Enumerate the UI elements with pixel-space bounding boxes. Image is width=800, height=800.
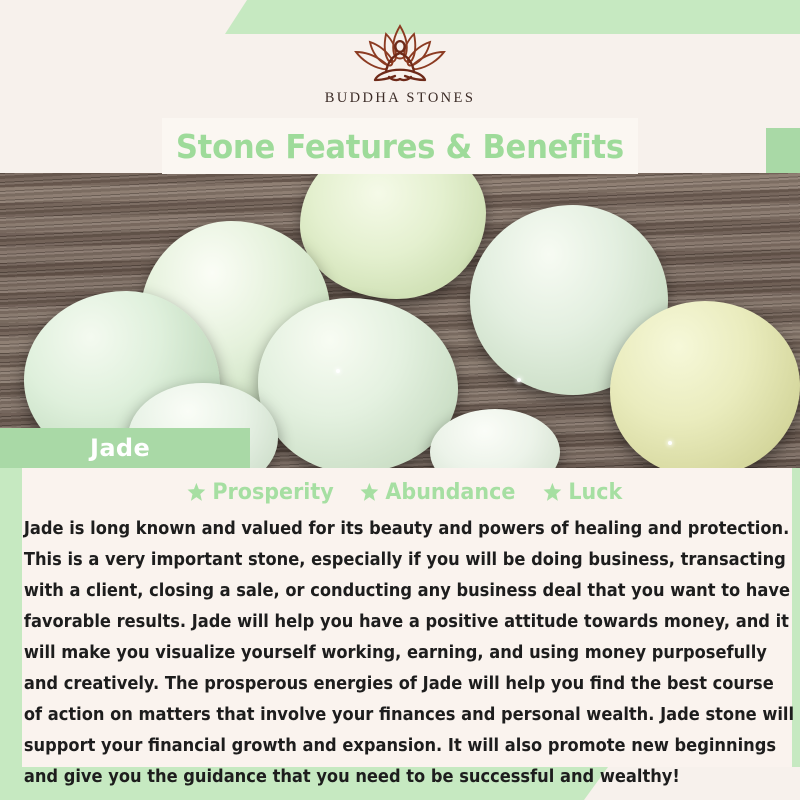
keyword-list: Prosperity Abundance Luck — [22, 468, 792, 507]
page-title: Stone Features & Benefits — [176, 127, 624, 166]
stone-name-bar: Jade — [0, 428, 250, 468]
sparkle-icon — [517, 378, 521, 382]
keyword-item: Abundance — [360, 480, 515, 505]
infographic-page: BUDDHA STONES Stone Features & Benefits … — [0, 0, 800, 800]
keyword-item: Luck — [543, 480, 622, 505]
sparkle-icon — [668, 441, 672, 445]
stone-description: Jade is long known and valued for its be… — [22, 514, 798, 793]
content-panel: Prosperity Abundance Luck Jade is long k… — [22, 468, 792, 767]
brand-logo: BUDDHA STONES — [0, 22, 800, 107]
sparkle-icon — [336, 369, 340, 373]
star-icon — [543, 482, 562, 502]
stone-shape — [610, 301, 800, 468]
title-band: Stone Features & Benefits — [162, 118, 638, 174]
stone-name: Jade — [90, 434, 150, 462]
keyword-label: Luck — [568, 480, 622, 505]
keyword-label: Abundance — [386, 480, 516, 505]
brand-name: BUDDHA STONES — [325, 90, 476, 107]
left-green-bar-lower — [0, 468, 22, 767]
lotus-meditation-icon — [342, 22, 458, 86]
keyword-item: Prosperity — [187, 480, 334, 505]
star-icon — [187, 482, 206, 502]
keyword-label: Prosperity — [212, 480, 333, 505]
stone-photo — [0, 173, 800, 468]
star-icon — [360, 482, 379, 502]
